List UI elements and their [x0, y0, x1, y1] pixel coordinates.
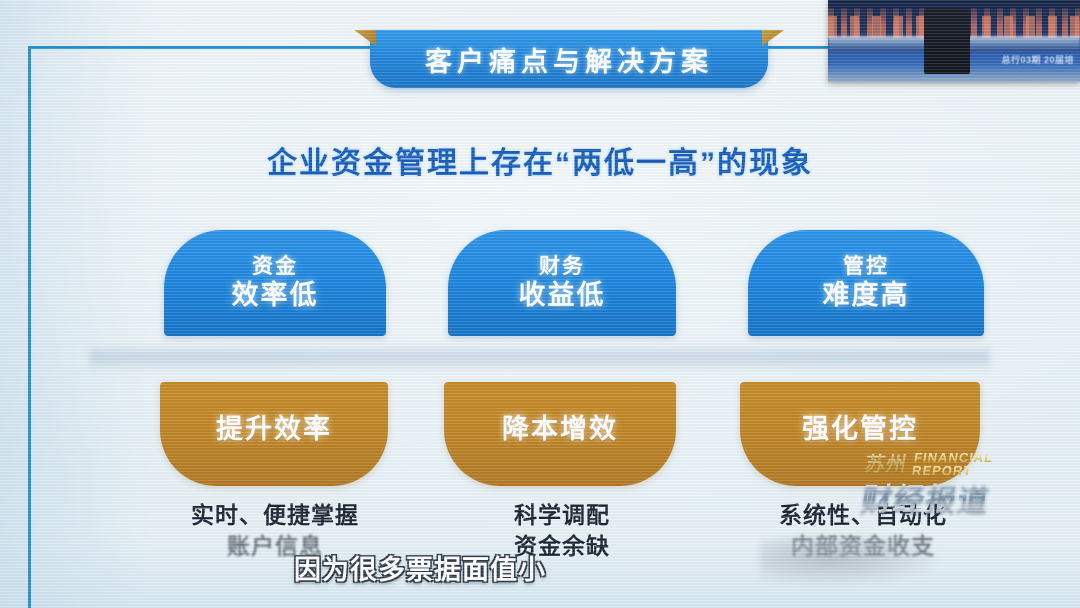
solution-card-2-label: 降本增效 [502, 407, 618, 446]
pain-point-card-1-line2: 效率低 [232, 279, 319, 311]
solution-card-2: 降本增效 [444, 382, 676, 486]
row-divider-band [90, 344, 990, 372]
pain-point-card-3-line2: 难度高 [823, 279, 910, 311]
pain-point-card-2-line2: 收益低 [519, 279, 606, 311]
pip-caption-text: 总行03期 20届培 [1001, 53, 1074, 66]
solution-card-1: 提升效率 [160, 382, 388, 486]
solution-card-3-label: 强化管控 [802, 407, 918, 446]
caption-1-line1: 实时、便捷掌握 [150, 500, 400, 531]
pain-point-card-3: 管控 难度高 [748, 230, 984, 336]
watermark-program-title: 财经报道 [858, 474, 993, 519]
caption-2-line1: 科学调配 [442, 500, 682, 531]
pip-podium-icon [924, 8, 970, 74]
slide-title-text: 客户痛点与解决方案 [370, 30, 768, 88]
pain-point-row: 资金 效率低 财务 收益低 管控 难度高 [0, 230, 1080, 340]
solution-card-1-label: 提升效率 [216, 407, 332, 446]
pain-point-card-1: 资金 效率低 [164, 230, 386, 336]
watermark-city-label: 苏州 [863, 448, 910, 477]
banner-gold-accent-left-icon [354, 30, 376, 46]
pain-point-card-2-line1: 财务 [539, 255, 585, 279]
station-watermark: 苏州 FINANCIAL REPORT 财经报道 [856, 448, 1067, 520]
banner-gold-accent-right-icon [762, 30, 784, 46]
slide-title-banner: 客户痛点与解决方案 [370, 30, 768, 88]
pain-point-card-3-line1: 管控 [843, 255, 889, 279]
broadcast-frame: 客户痛点与解决方案 企业资金管理上存在“两低一高”的现象 资金 效率低 财务 收… [0, 0, 1080, 608]
watermark-top-row: 苏州 FINANCIAL REPORT [863, 448, 995, 477]
pip-video-inset[interactable]: 总行03期 20届培 [828, 0, 1080, 82]
burned-in-subtitle: 因为很多票据面值小 [0, 548, 1080, 587]
burned-in-subtitle-text: 因为很多票据面值小 [294, 548, 546, 587]
pain-point-card-2: 财务 收益低 [448, 230, 676, 336]
slide-headline: 企业资金管理上存在“两低一高”的现象 [0, 138, 1080, 182]
pain-point-card-1-line1: 资金 [252, 255, 298, 279]
